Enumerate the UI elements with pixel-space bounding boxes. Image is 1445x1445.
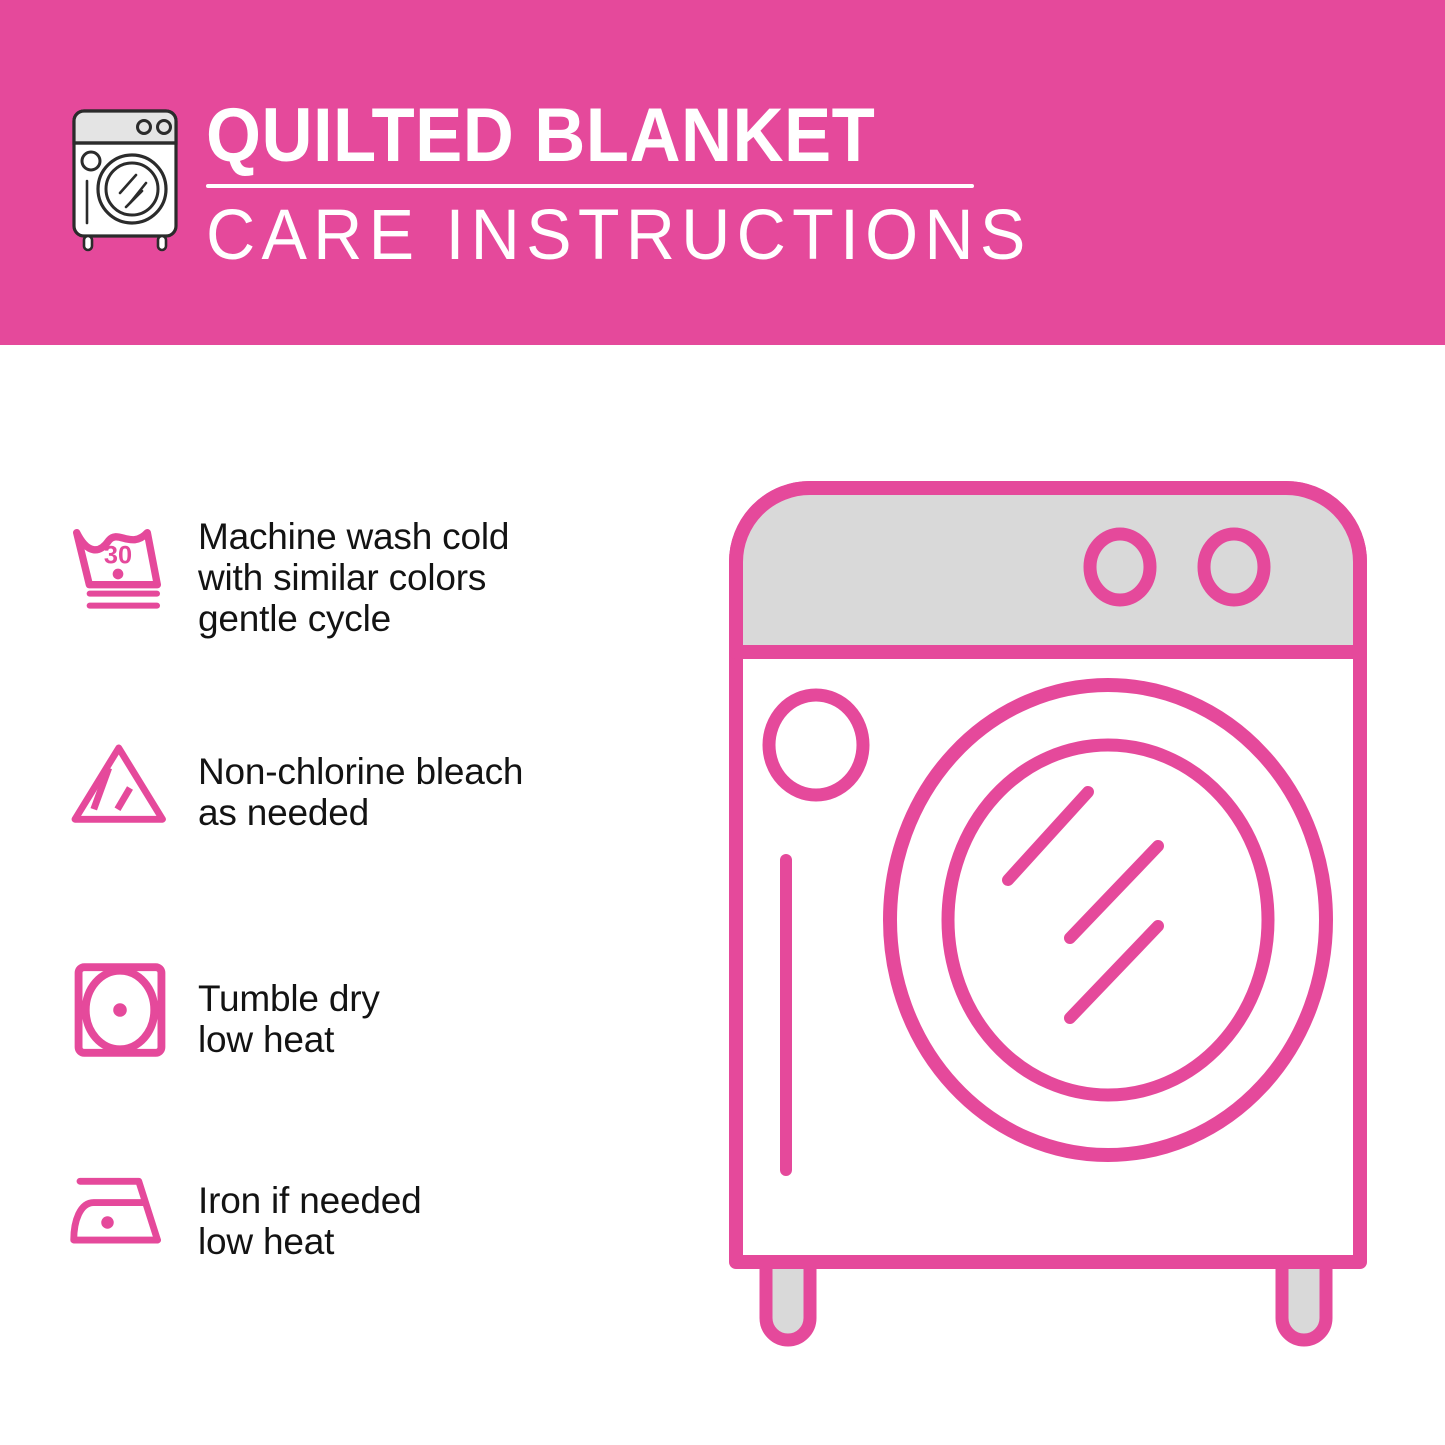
iron-icon: [0, 1150, 170, 1270]
care-instructions-page: QUILTED BLANKET CARE INSTRUCTIONS 30: [0, 0, 1445, 1445]
care-item-tumble-dry: Tumble dry low heat: [0, 940, 690, 1080]
header-text-block: QUILTED BLANKET CARE INSTRUCTIONS: [206, 96, 996, 274]
machine-legs: [766, 1258, 1326, 1340]
care-item-iron: Iron if needed low heat: [0, 1150, 690, 1270]
wash-temperature-value: 30: [104, 541, 132, 569]
washing-machine-illustration: [718, 470, 1418, 1370]
wash-tub-icon: 30: [0, 500, 170, 640]
tumble-dry-icon: [0, 940, 170, 1080]
care-item-label: Machine wash cold with similar colors ge…: [170, 500, 690, 639]
washing-machine-icon: [60, 103, 190, 253]
header-banner: QUILTED BLANKET CARE INSTRUCTIONS: [0, 0, 1445, 345]
knob-1-icon: [1090, 534, 1150, 600]
care-item-label: Non-chlorine bleach as needed: [170, 713, 690, 833]
dispenser-circle-icon: [769, 695, 863, 795]
knob-2-icon: [1204, 534, 1264, 600]
care-item-label: Tumble dry low heat: [170, 940, 690, 1060]
page-subtitle: CARE INSTRUCTIONS: [206, 198, 964, 274]
drum-inner-ring: [948, 745, 1268, 1095]
care-item-bleach: Non-chlorine bleach as needed: [0, 713, 690, 853]
care-item-label: Iron if needed low heat: [170, 1150, 690, 1262]
title-divider: [206, 184, 974, 188]
bleach-triangle-icon: [0, 713, 170, 853]
care-symbol-list: 30 Machine wash cold with similar colors…: [0, 345, 700, 1445]
page-title: QUILTED BLANKET: [206, 96, 941, 176]
care-item-machine-wash: 30 Machine wash cold with similar colors…: [0, 500, 690, 640]
